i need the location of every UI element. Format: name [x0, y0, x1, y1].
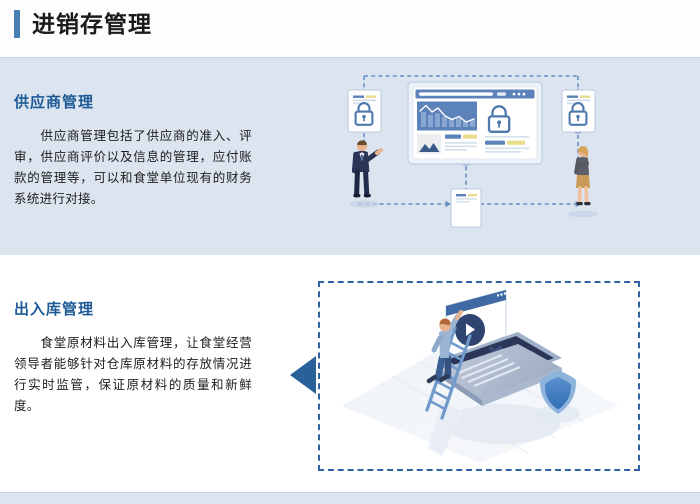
warehouse-scene [330, 288, 630, 466]
browser-title-bar [416, 90, 535, 99]
supplier-network-illustration [320, 64, 620, 244]
page-header: 进销存管理 [0, 0, 700, 57]
footer-band [0, 492, 700, 504]
bar-chart-panel [417, 102, 477, 131]
section-2-body-text: 食堂原材料出入库管理，让食堂经营领导者能够针对仓库原材料的存放情况进行实时监管，… [14, 336, 252, 413]
title-wrap: 进销存管理 [14, 10, 152, 38]
shadow-left [349, 201, 379, 208]
section-1-heading: 供应商管理 [14, 91, 94, 112]
shadow-right [568, 211, 598, 218]
document-card-lock-left [348, 90, 381, 132]
play-button-icon [455, 314, 485, 346]
left-triangle-pointer [290, 356, 316, 394]
section-1-body-text: 供应商管理包括了供应商的准入、评审，供应商评价以及信息的管理，应付账款的管理等，… [14, 129, 252, 206]
title-accent-bar [14, 10, 20, 38]
lock-panel [482, 102, 532, 155]
dashboard-browser-window [408, 82, 542, 164]
section-2-body: 食堂原材料出入库管理，让食堂经营领导者能够针对仓库原材料的存放情况进行实时监管，… [14, 333, 252, 417]
businessman-figure [353, 140, 381, 197]
page-title: 进销存管理 [32, 10, 152, 38]
page-root: 进销存管理 供应商管理 供应商管理包括了供应商的准入、评审，供应商评价以及信息的… [0, 0, 700, 504]
document-card-bottom [451, 189, 481, 227]
document-card-lock-right [562, 90, 595, 132]
section-2-heading: 出入库管理 [14, 298, 94, 319]
warehouse-laptop-illustration [290, 272, 660, 487]
businesswoman-figure [576, 146, 591, 205]
section-1-body: 供应商管理包括了供应商的准入、评审，供应商评价以及信息的管理，应付账款的管理等，… [14, 126, 252, 210]
